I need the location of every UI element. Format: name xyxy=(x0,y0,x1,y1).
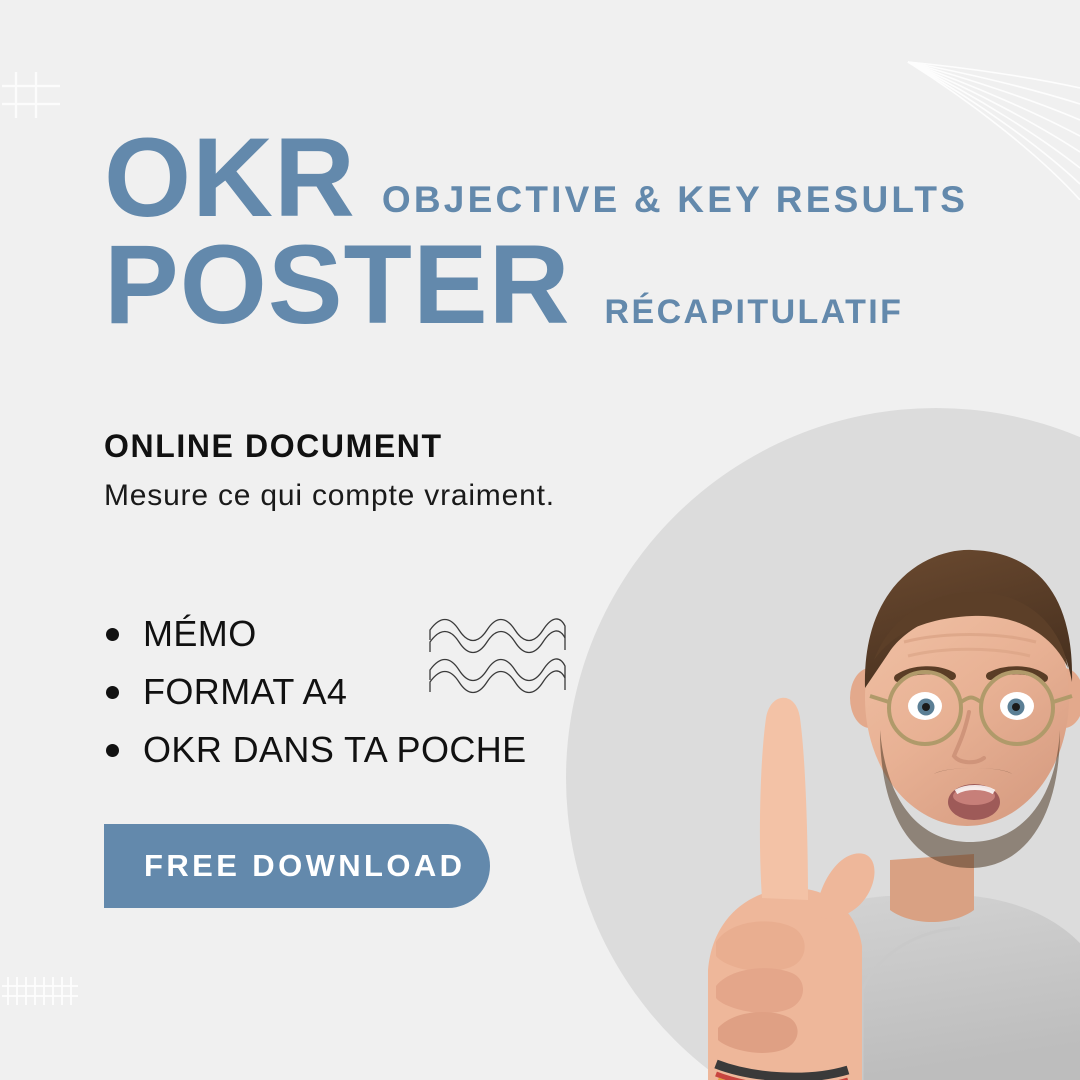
poster-canvas: OKR OBJECTIVE & KEY RESULTS POSTER RÉCAP… xyxy=(0,0,1080,1080)
headline-poster: POSTER xyxy=(104,225,571,346)
portrait-illustration xyxy=(612,430,1080,1080)
headline-row-2: POSTER RÉCAPITULATIF xyxy=(104,225,1004,346)
free-download-button[interactable]: FREE DOWNLOAD xyxy=(104,824,490,908)
copy-title: ONLINE DOCUMENT xyxy=(104,428,574,465)
hatch-mark-icon xyxy=(2,975,80,1007)
list-item-label: OKR DANS TA POCHE xyxy=(143,729,527,771)
list-item: OKR DANS TA POCHE xyxy=(106,721,606,779)
list-item-label: FORMAT A4 xyxy=(143,671,347,713)
headline-subtitle-recapitulatif: RÉCAPITULATIF xyxy=(605,293,904,332)
headline-okr: OKR xyxy=(104,118,356,239)
headline-subtitle-objective: OBJECTIVE & KEY RESULTS xyxy=(382,179,968,221)
headline-block: OKR OBJECTIVE & KEY RESULTS POSTER RÉCAP… xyxy=(104,118,1004,346)
wave-lines-icon xyxy=(428,618,568,702)
bullet-dot-icon xyxy=(106,686,119,699)
copy-block: ONLINE DOCUMENT Mesure ce qui compte vra… xyxy=(104,428,574,518)
headline-row-1: OKR OBJECTIVE & KEY RESULTS xyxy=(104,118,1004,239)
bullet-dot-icon xyxy=(106,744,119,757)
list-item-label: MÉMO xyxy=(143,613,257,655)
copy-text: Mesure ce qui compte vraiment. xyxy=(104,475,574,518)
bullet-dot-icon xyxy=(106,628,119,641)
crosshatch-icon xyxy=(2,72,62,118)
portrait-photo xyxy=(612,430,1080,1080)
